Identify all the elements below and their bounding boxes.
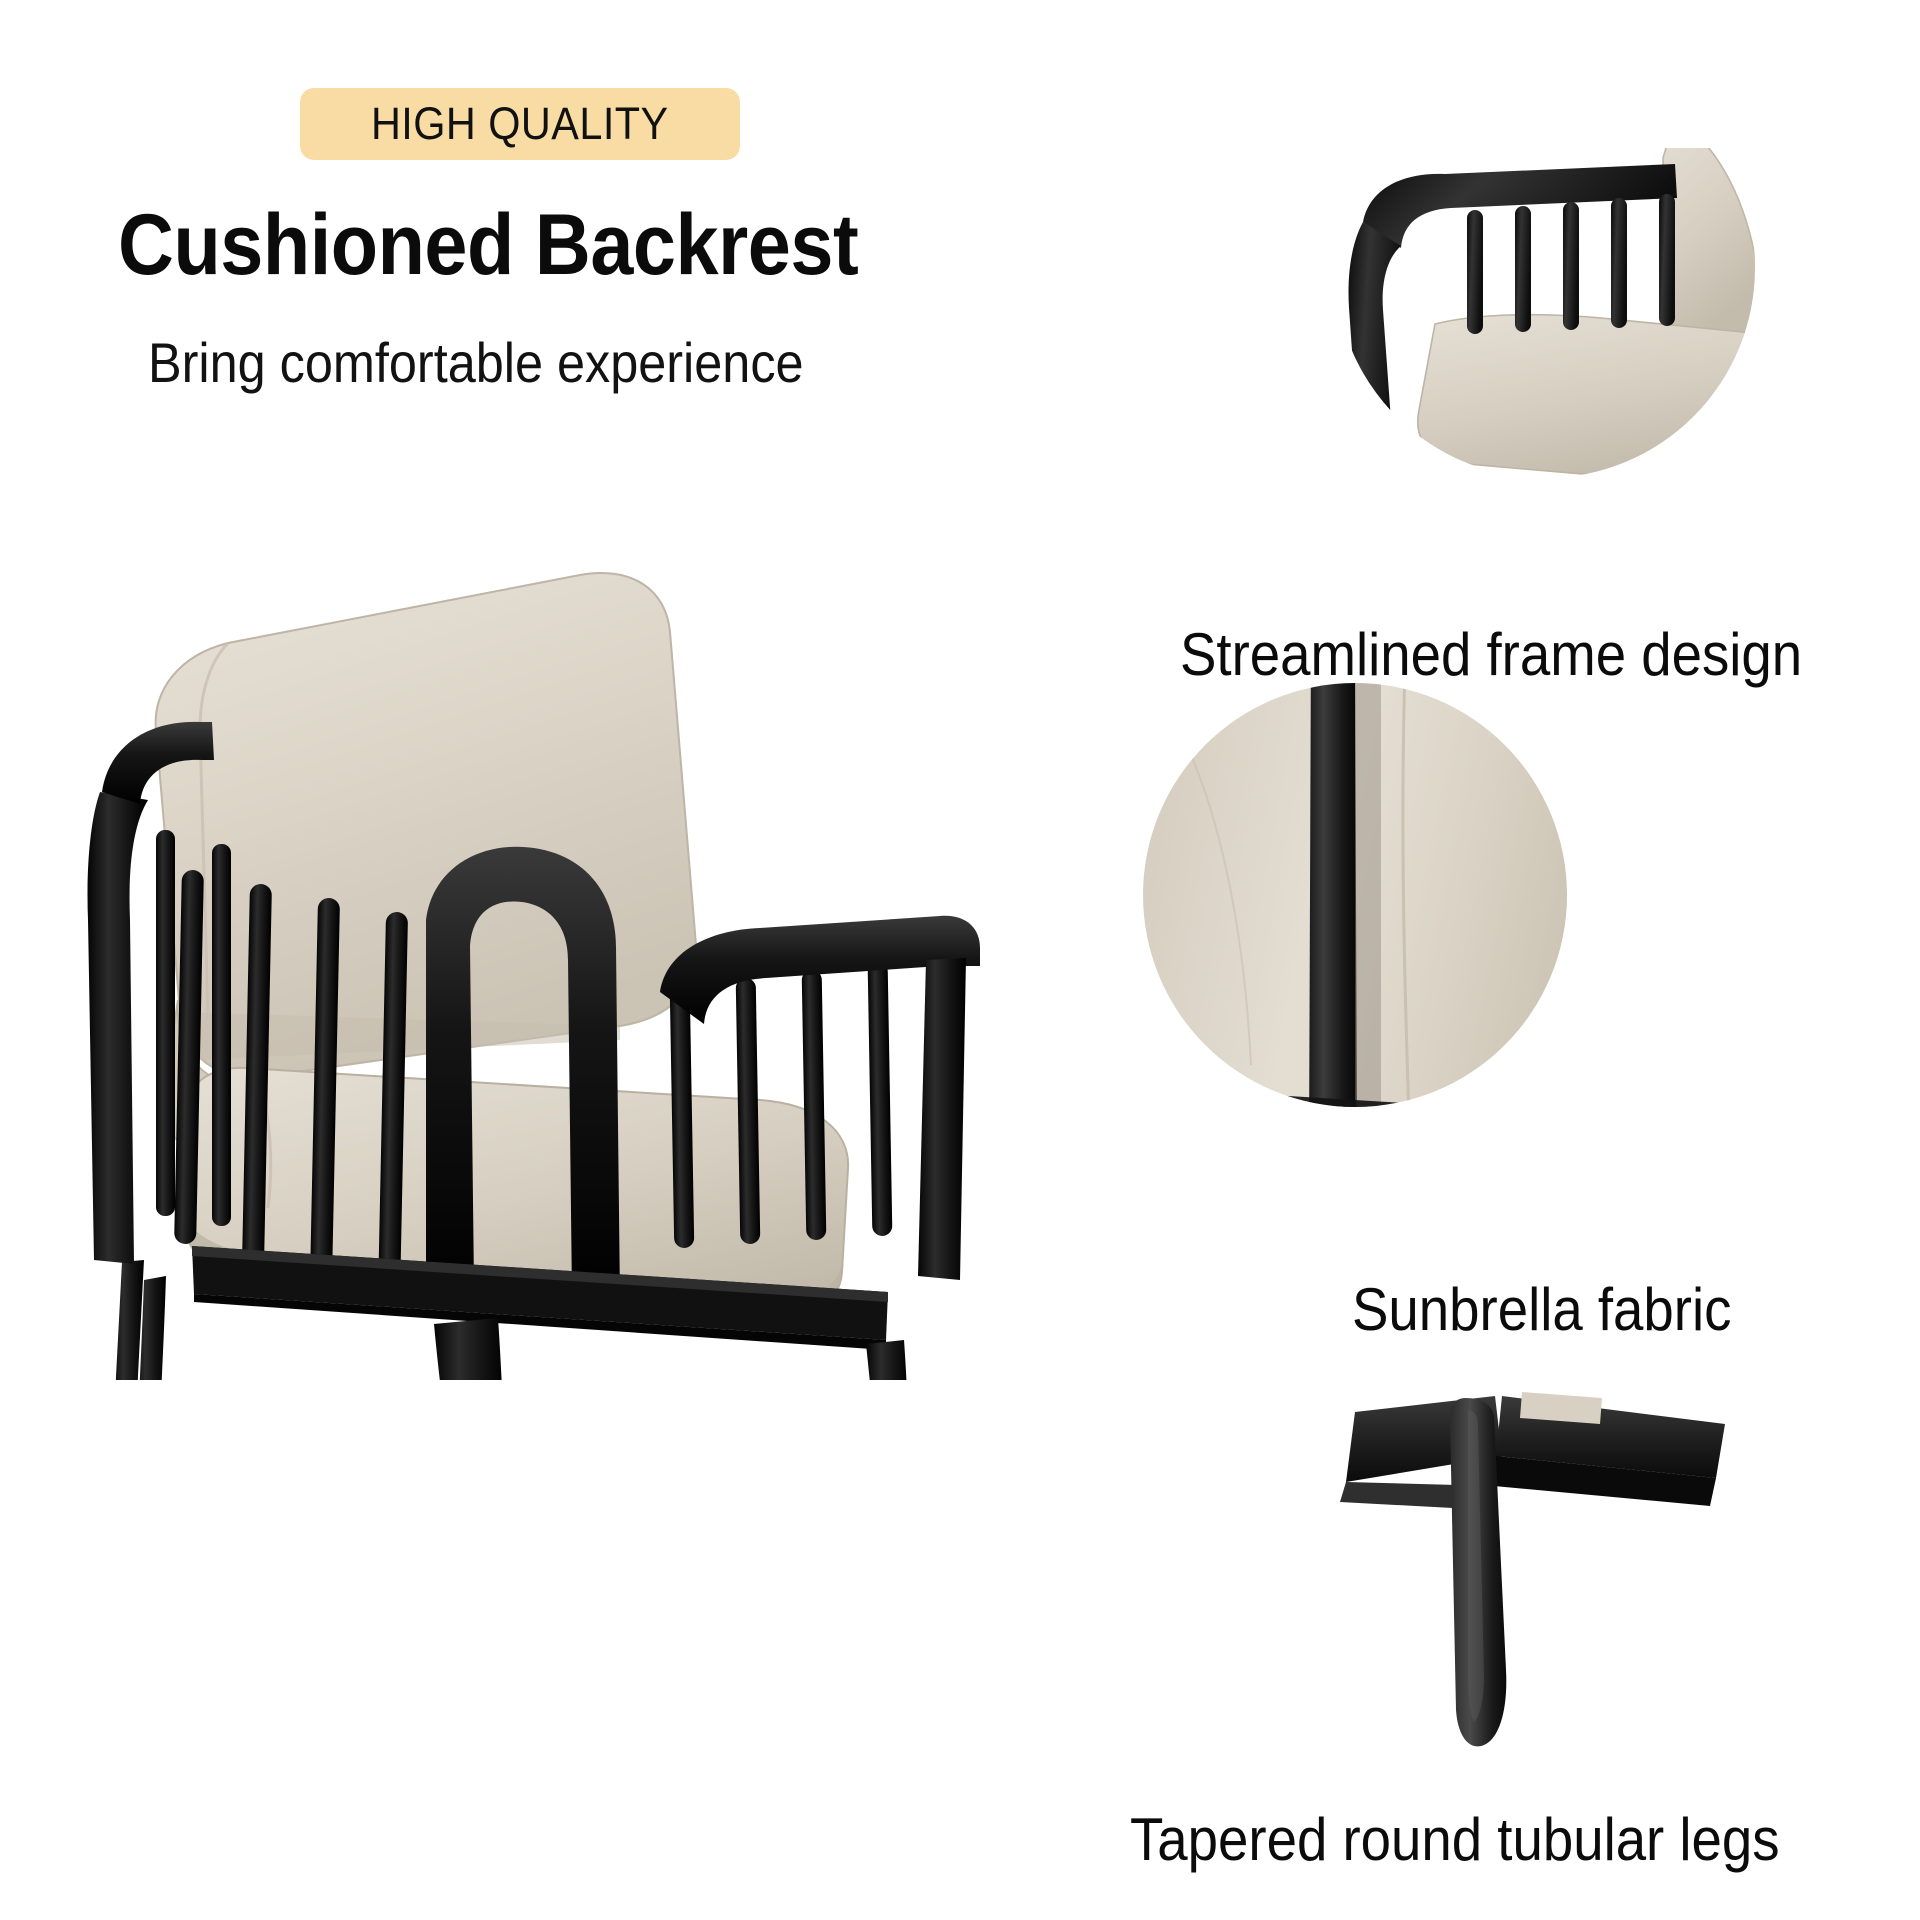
feature-caption-sunbrella-fabric: Sunbrella fabric [1352,1275,1731,1344]
page-subtitle: Bring comfortable experience [148,330,804,395]
page-title: Cushioned Backrest [118,196,858,295]
feature-image-streamlined-frame [1115,148,1915,478]
feature-image-sunbrella-fabric [1105,645,1605,1145]
feature-caption-tapered-legs: Tapered round tubular legs [1130,1805,1780,1874]
high-quality-badge: HIGH QUALITY [300,88,740,160]
feature-image-tapered-legs [1150,1370,1770,1780]
hero-chair-photo [60,400,980,1380]
high-quality-badge-label: HIGH QUALITY [371,98,669,150]
